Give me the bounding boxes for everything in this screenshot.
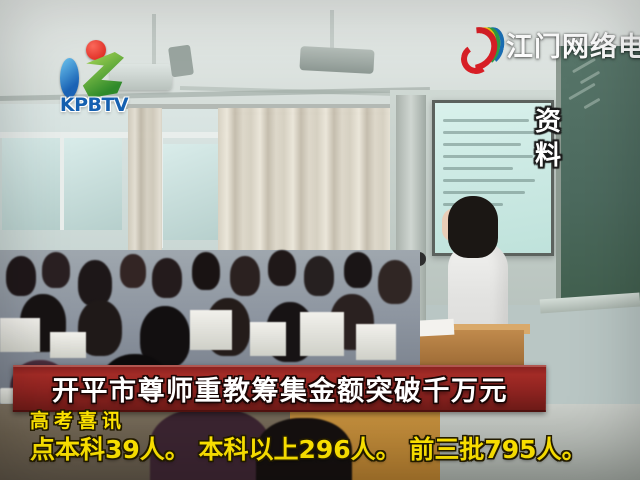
news-headline-text: 开平市尊师重教筹集金额突破千万元 xyxy=(52,369,508,408)
ticker-content-text: 点本科39人。 本科以上296人。 前三批795人。 xyxy=(30,436,640,464)
jiangmen-swirl-icon xyxy=(456,24,500,64)
wall-speaker xyxy=(168,45,194,78)
logo-green-swoosh-icon xyxy=(82,52,124,100)
archive-label-char-1: 资 xyxy=(528,106,568,140)
ceiling-projector-secondary xyxy=(299,46,374,74)
news-ticker: 高考喜讯 点本科39人。 本科以上296人。 前三批795人。 xyxy=(30,412,640,463)
ticker-category-label: 高考喜讯 xyxy=(30,412,640,432)
logo-blue-leaf-icon xyxy=(60,58,79,98)
tv-broadcast-frame: KPBTV 江门网络电视 资 料 开平市尊师重教筹集金额突破千万元 高考喜讯 点… xyxy=(0,0,640,480)
news-headline-bar: 开平市尊师重教筹集金额突破千万元 xyxy=(13,365,546,412)
teacher-hair xyxy=(448,196,498,258)
kpbtv-logo-text: KPBTV xyxy=(54,94,134,116)
projector-mount-pole-secondary xyxy=(330,10,334,50)
blackboard xyxy=(556,46,640,301)
jiangmen-network-tv-bug: 江门网络电视 xyxy=(456,24,640,64)
kpbtv-logo: KPBTV xyxy=(56,40,130,110)
archive-footage-label: 资 料 xyxy=(528,106,568,174)
archive-label-char-2: 料 xyxy=(528,140,568,174)
jiangmen-network-tv-text: 江门网络电视 xyxy=(506,25,640,64)
